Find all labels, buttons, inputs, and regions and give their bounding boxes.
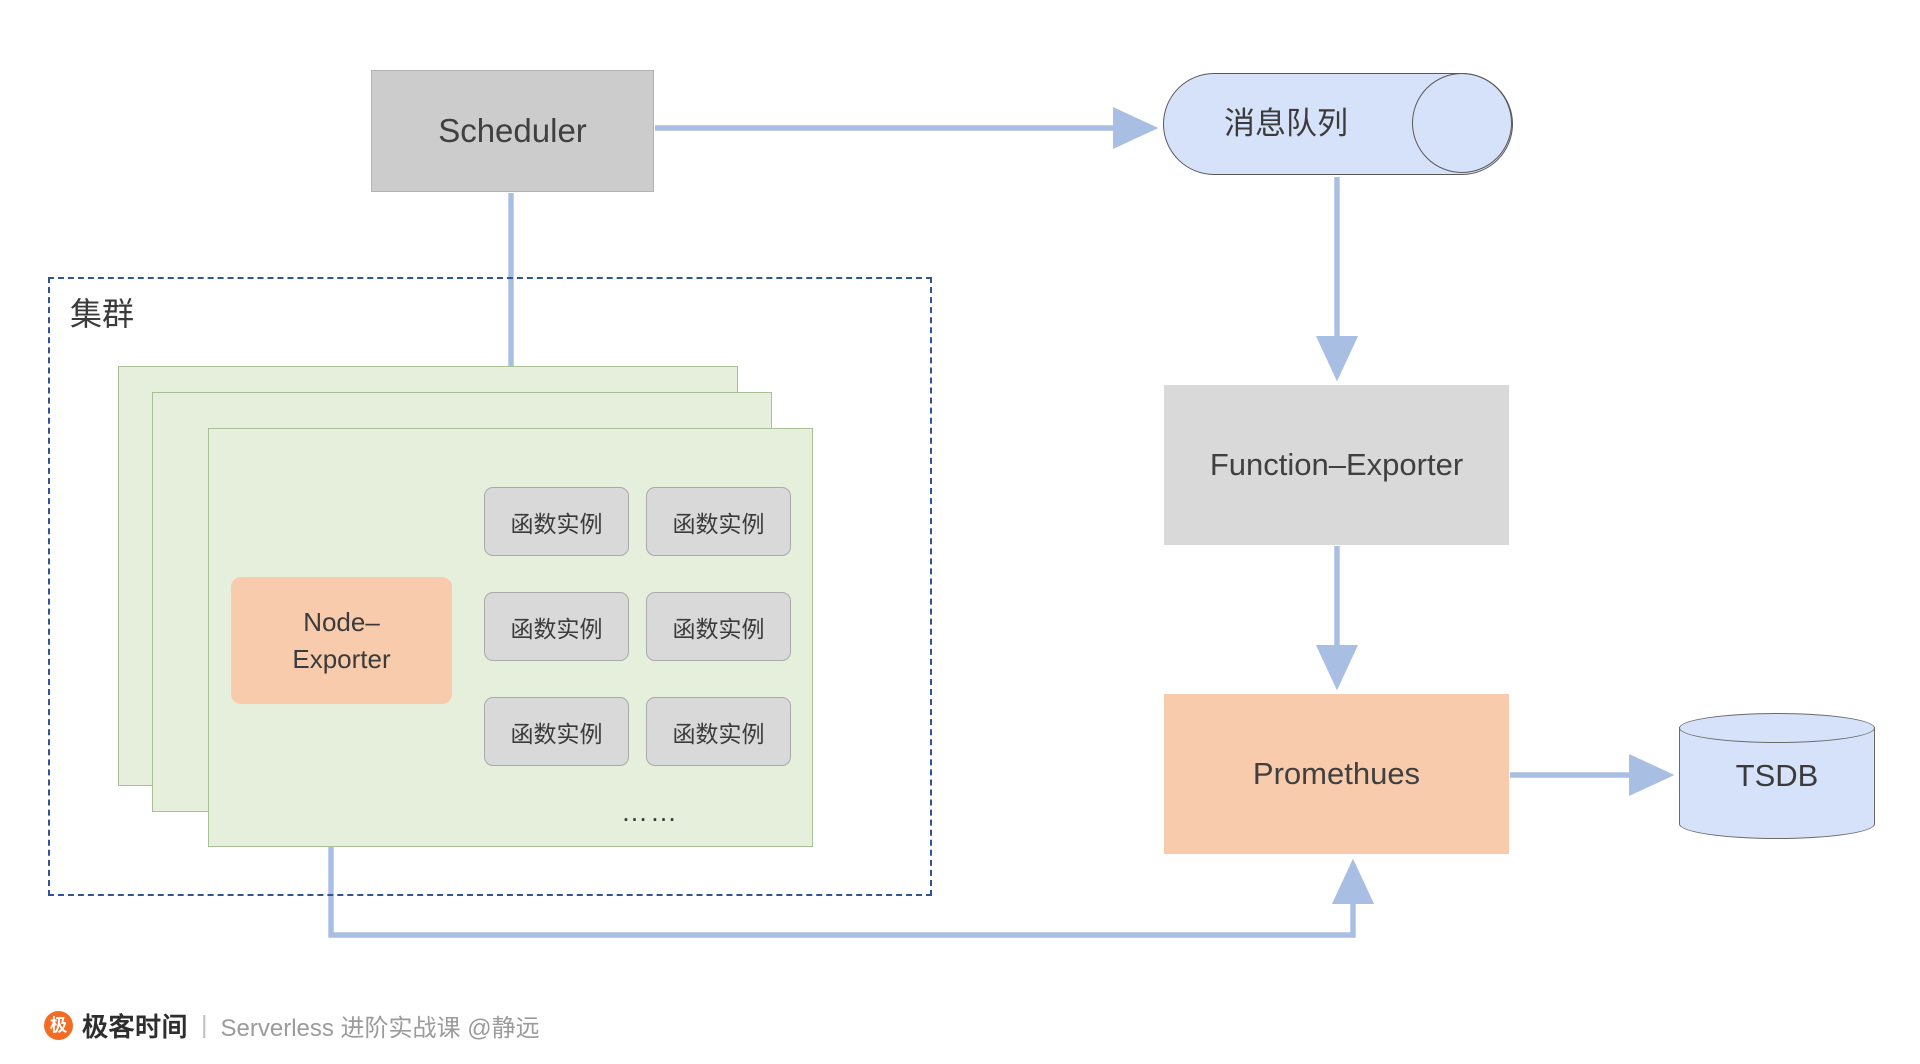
function-instance-box[interactable]: 函数实例 bbox=[484, 592, 629, 661]
node-exporter-label-line2: Exporter bbox=[292, 641, 390, 678]
cluster-label: 集群 bbox=[70, 289, 250, 339]
tsdb-node[interactable]: TSDB bbox=[1679, 713, 1875, 838]
geekbang-logo-icon: 极 bbox=[44, 1011, 73, 1040]
tsdb-label: TSDB bbox=[1679, 713, 1875, 838]
node-exporter-label-line1: Node– bbox=[303, 604, 380, 641]
function-instance-ellipsis: …… bbox=[590, 795, 710, 829]
function-instance-box[interactable]: 函数实例 bbox=[484, 697, 629, 766]
scheduler-node[interactable]: Scheduler bbox=[371, 70, 654, 192]
course-name: Serverless 进阶实战课 @静远 bbox=[221, 1008, 540, 1043]
message-queue-label: 消息队列 bbox=[1163, 73, 1409, 175]
message-queue-end-cap bbox=[1412, 73, 1512, 173]
function-exporter-node[interactable]: Function–Exporter bbox=[1164, 385, 1509, 545]
diagram-canvas: Scheduler 消息队列 集群 Node– Exporter 函数实例 函数… bbox=[0, 0, 1920, 1064]
brand-name: 极客时间 bbox=[82, 1007, 188, 1044]
promethues-node[interactable]: Promethues bbox=[1164, 694, 1509, 854]
function-instance-box[interactable]: 函数实例 bbox=[646, 592, 791, 661]
function-instance-box[interactable]: 函数实例 bbox=[484, 487, 629, 556]
message-queue-node[interactable]: 消息队列 bbox=[1163, 73, 1513, 175]
function-instance-box[interactable]: 函数实例 bbox=[646, 487, 791, 556]
footer-watermark: 极 极客时间 | Serverless 进阶实战课 @静远 bbox=[44, 1005, 540, 1045]
node-exporter-node[interactable]: Node– Exporter bbox=[231, 577, 452, 704]
function-instance-box[interactable]: 函数实例 bbox=[646, 697, 791, 766]
footer-divider: | bbox=[201, 1011, 208, 1040]
